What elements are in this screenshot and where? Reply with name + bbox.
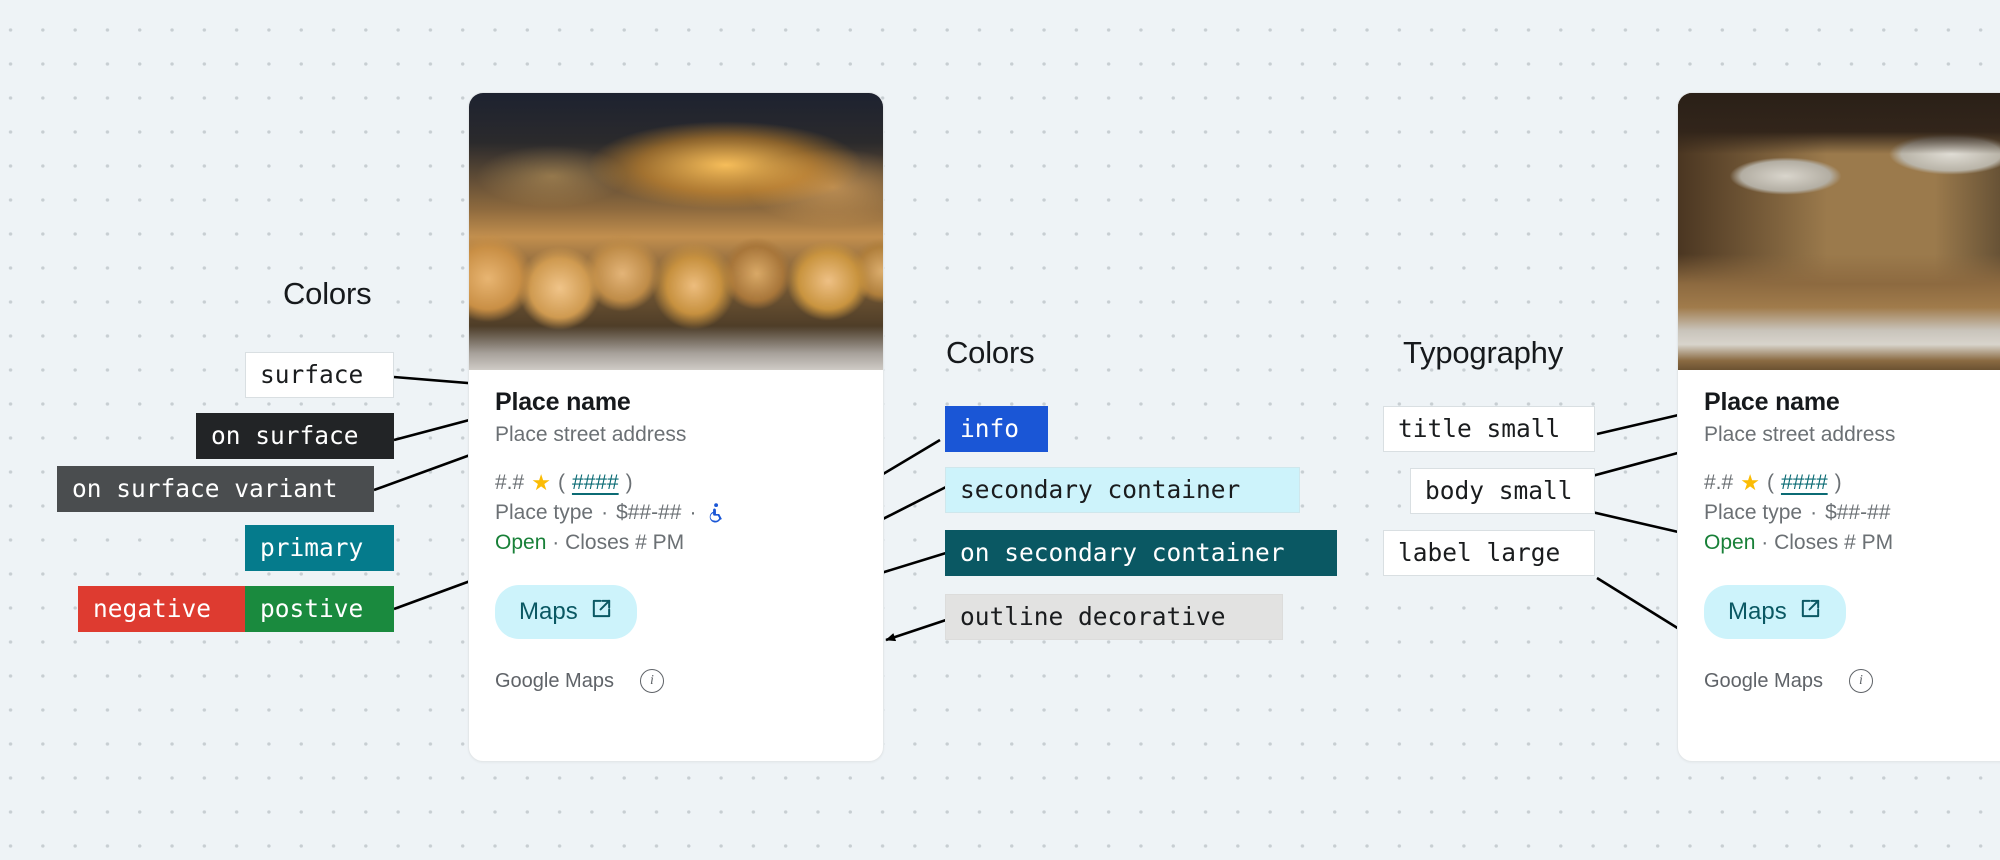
place-card-right[interactable]: Place name Place street address #.# ★ (#… [1677,92,2000,762]
page-title-typography: Typography [1403,335,1563,371]
place-name: Place name [495,388,857,417]
place-hours-row: Open · Closes # PM [495,531,857,555]
color-token-primary[interactable]: primary [245,525,394,571]
color-token-on-surface[interactable]: on surface [196,413,394,459]
color-token-surface[interactable]: surface [245,352,394,398]
color-token-on-surface-variant[interactable]: on surface variant [57,466,374,512]
rating-paren-close-right: ) [1835,471,1842,495]
place-name-right: Place name [1704,388,2000,417]
dot-separator-5: · [1761,531,1768,554]
type-token-title-small[interactable]: title small [1383,406,1595,452]
rating-paren-open: ( [558,471,565,495]
maps-button-label: Maps [519,598,578,626]
color-token-secondary-container[interactable]: secondary container [945,467,1300,513]
place-card-footer: Google Maps i [469,639,883,717]
place-card-body: Place name Place street address #.# ★ (#… [469,370,883,639]
rating-value-right: #.# [1704,471,1733,495]
color-token-info[interactable]: info [945,406,1048,452]
place-address: Place street address [495,423,857,447]
google-maps-attribution-right: Google Maps [1704,670,1823,693]
dot-separator-1: · [601,501,608,525]
type-token-label-large[interactable]: label large [1383,530,1595,576]
wheelchair-icon [704,502,726,524]
page-title-colors-center: Colors [946,335,1034,371]
closing-time-right: Closes # PM [1774,531,1893,554]
maps-button[interactable]: Maps [495,585,637,639]
open-status-right: Open [1704,531,1755,554]
google-maps-attribution: Google Maps [495,670,614,693]
info-icon[interactable]: i [640,669,664,693]
place-type: Place type [495,501,593,525]
place-card-left[interactable]: Place name Place street address #.# ★ (#… [468,92,884,762]
dot-separator-4: · [1810,501,1817,525]
place-rating-row: #.# ★ (####) [495,471,857,495]
maps-button-right[interactable]: Maps [1704,585,1846,639]
place-price-right: $##-## [1825,501,1890,525]
maps-button-label-right: Maps [1728,598,1787,626]
color-token-outline-decorative[interactable]: outline decorative [945,594,1283,640]
rating-paren-close: ) [626,471,633,495]
dot-separator-2: · [689,501,696,525]
place-photo-cafe [1678,93,2000,370]
star-icon-right: ★ [1740,472,1760,494]
rating-value: #.# [495,471,524,495]
color-token-negative[interactable]: negative [78,586,245,632]
place-hours-row-right: Open · Closes # PM [1704,531,2000,555]
place-photo-bakery [469,93,883,370]
place-card-body-right: Place name Place street address #.# ★ (#… [1678,370,2000,639]
place-type-right: Place type [1704,501,1802,525]
type-token-body-small[interactable]: body small [1410,468,1595,514]
external-link-icon-right [1799,597,1822,627]
rating-count-link[interactable]: #### [572,471,619,495]
color-token-on-secondary-container[interactable]: on secondary container [945,530,1337,576]
external-link-icon [590,597,613,627]
place-type-row: Place type · $##-## · [495,501,857,525]
rating-count-link-right[interactable]: #### [1781,471,1828,495]
rating-paren-open-right: ( [1767,471,1774,495]
place-rating-row-right: #.# ★ (####) [1704,471,2000,495]
info-icon-right[interactable]: i [1849,669,1873,693]
closing-time: Closes # PM [565,531,684,554]
dot-separator-3: · [552,531,559,554]
place-card-footer-right: Google Maps i [1678,639,2000,717]
color-token-postive[interactable]: postive [245,586,394,632]
star-icon: ★ [531,472,551,494]
place-type-row-right: Place type · $##-## [1704,501,2000,525]
place-price: $##-## [616,501,681,525]
place-address-right: Place street address [1704,423,2000,447]
design-annotation-canvas: Colors surface on surface on surface var… [0,0,2000,860]
open-status: Open [495,531,546,554]
page-title-colors-left: Colors [283,276,371,312]
